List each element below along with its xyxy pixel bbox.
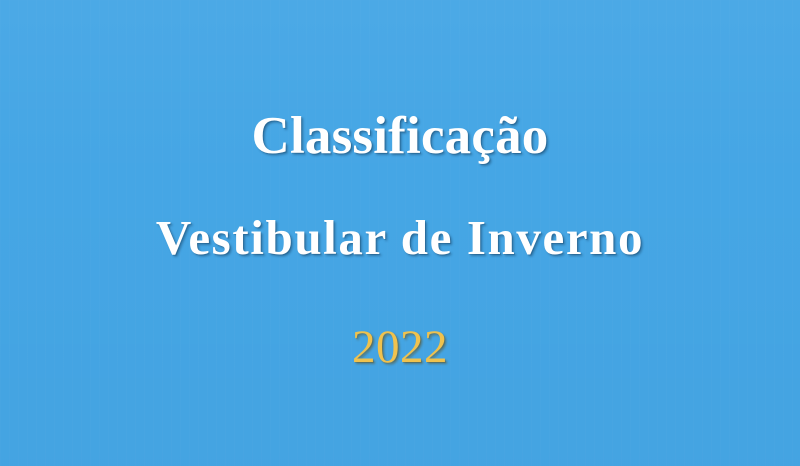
title-stack: Classificação Vestibular de Inverno 2022 [0, 0, 800, 466]
title-slide: Classificação Vestibular de Inverno 2022 [0, 0, 800, 466]
title-line-classificacao: Classificação [0, 110, 800, 163]
title-year-2022: 2022 [0, 324, 800, 371]
title-line-vestibular-de-inverno: Vestibular de Inverno [0, 213, 800, 262]
